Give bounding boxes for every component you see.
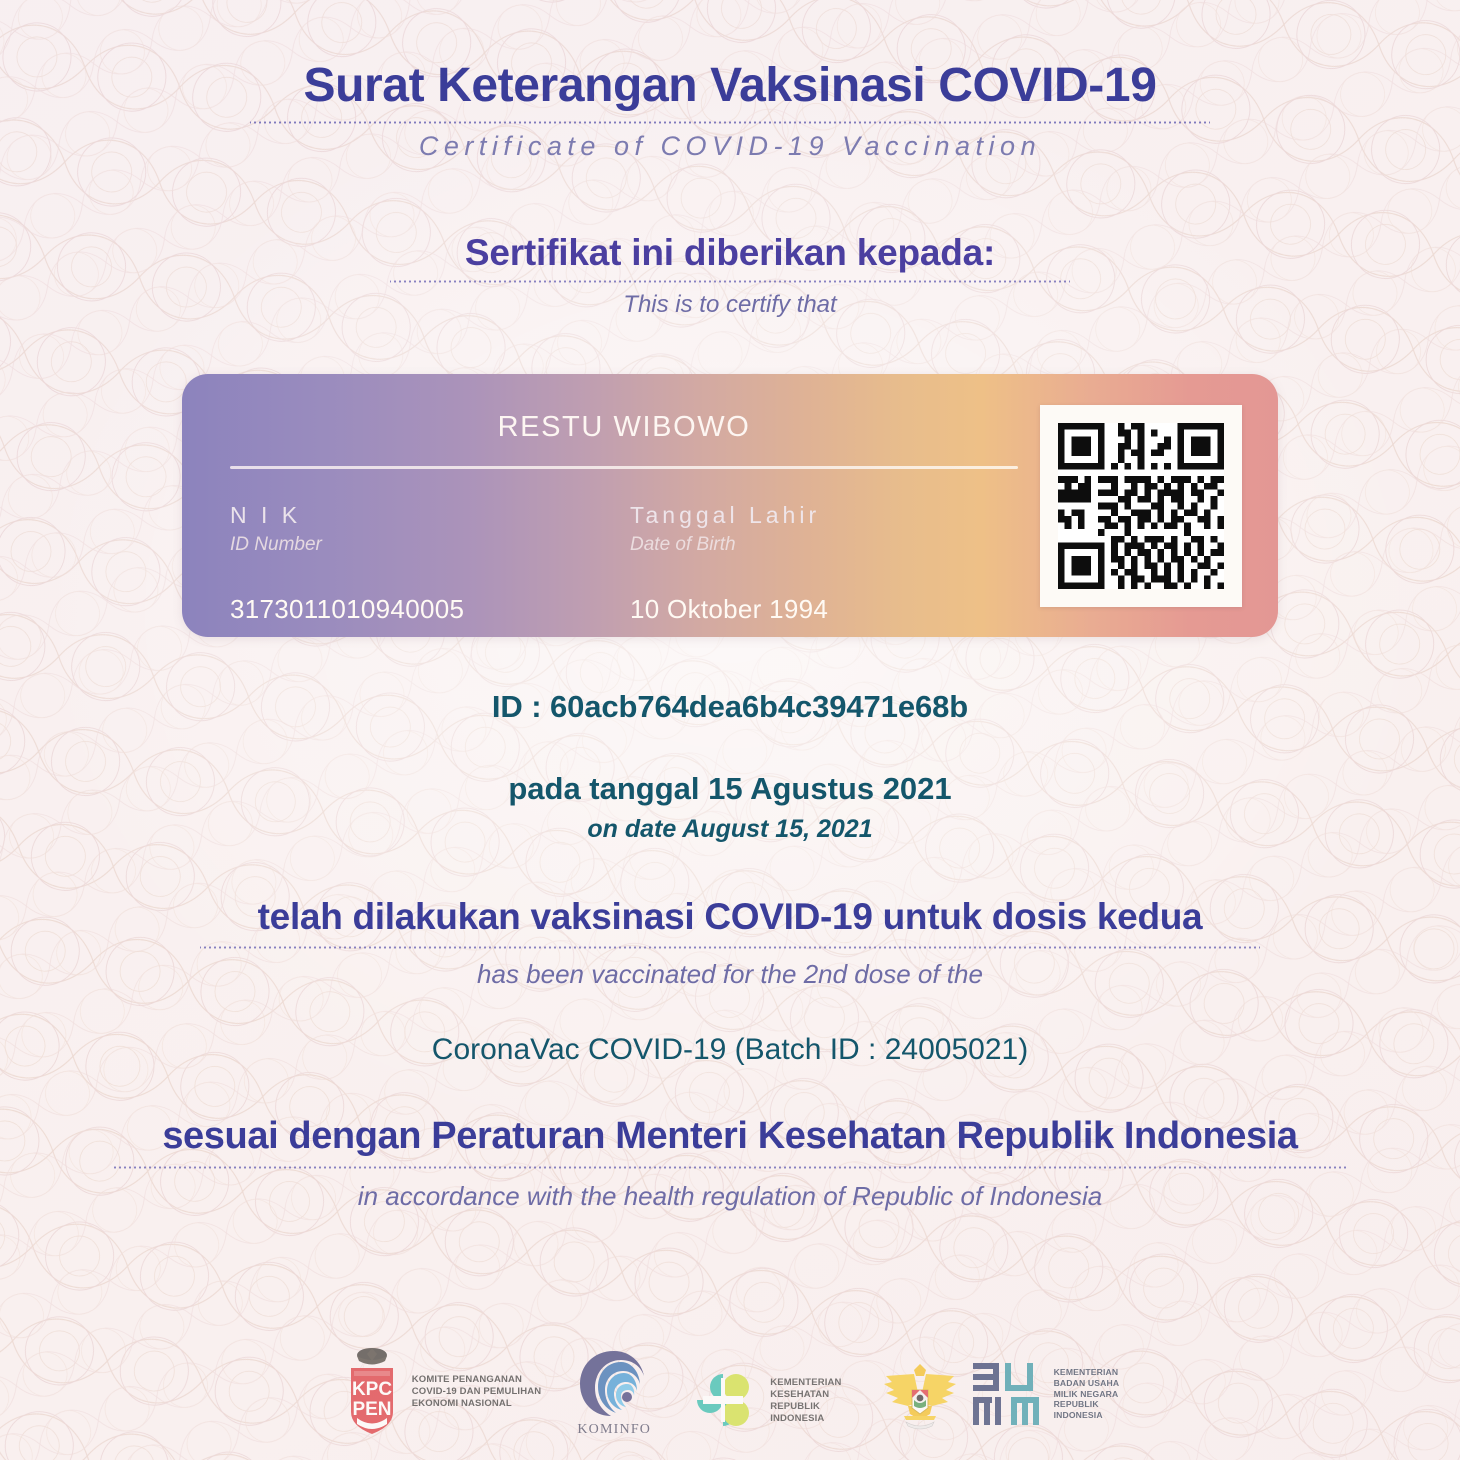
vaccination-statement-en: has been vaccinated for the 2nd dose of … (200, 959, 1260, 990)
qr-code[interactable] (1040, 405, 1242, 607)
dob-label-id: Tanggal Lahir (630, 502, 1018, 529)
dob-field: Tanggal Lahir Date of Birth 10 Oktober 1… (630, 502, 1018, 625)
page-subtitle: Certificate of COVID-19 Vaccination (250, 128, 1210, 164)
page-title: Surat Keterangan Vaksinasi COVID-19 (250, 58, 1210, 114)
certify-divider (390, 280, 1070, 283)
regulation-block: sesuai dengan Peraturan Menteri Kesehata… (112, 1115, 1348, 1212)
certificate-uid: ID : 60acb764dea6b4c39471e68b (492, 689, 968, 725)
identity-card: RESTU WIBOWO N I K ID Number 31730110109… (182, 374, 1278, 637)
certify-block: Sertifikat ini diberikan kepada: This is… (390, 232, 1070, 319)
vaccination-statement-divider (200, 946, 1260, 949)
nik-field: N I K ID Number 3173011010940005 (230, 502, 630, 625)
title-divider (250, 121, 1210, 124)
certify-label-en: This is to certify that (390, 291, 1070, 319)
regulation-statement-en: in accordance with the health regulation… (112, 1181, 1348, 1212)
vaccine-batch-line: CoronaVac COVID-19 (Batch ID : 24005021) (432, 1033, 1028, 1067)
dob-value: 10 Oktober 1994 (630, 594, 1018, 625)
certificate-header: Surat Keterangan Vaksinasi COVID-19 Cert… (250, 58, 1210, 164)
vaccination-date-id: pada tanggal 15 Agustus 2021 (508, 771, 951, 807)
nik-value: 3173011010940005 (230, 594, 630, 625)
vaccination-date-block: pada tanggal 15 Agustus 2021 on date Aug… (508, 771, 951, 844)
regulation-divider (112, 1166, 1348, 1169)
nik-label-en: ID Number (230, 534, 630, 556)
vaccination-statement-id: telah dilakukan vaksinasi COVID-19 untuk… (200, 896, 1260, 938)
nik-label-id: N I K (230, 502, 630, 529)
card-divider (230, 466, 1018, 469)
vaccination-statement-block: telah dilakukan vaksinasi COVID-19 untuk… (200, 896, 1260, 990)
regulation-statement-id: sesuai dengan Peraturan Menteri Kesehata… (112, 1115, 1348, 1158)
holder-name: RESTU WIBOWO (230, 411, 1018, 444)
vaccination-certificate: Surat Keterangan Vaksinasi COVID-19 Cert… (0, 0, 1460, 1460)
dob-label-en: Date of Birth (630, 534, 1018, 556)
certify-label-id: Sertifikat ini diberikan kepada: (390, 232, 1070, 274)
vaccination-date-en: on date August 15, 2021 (508, 815, 951, 844)
